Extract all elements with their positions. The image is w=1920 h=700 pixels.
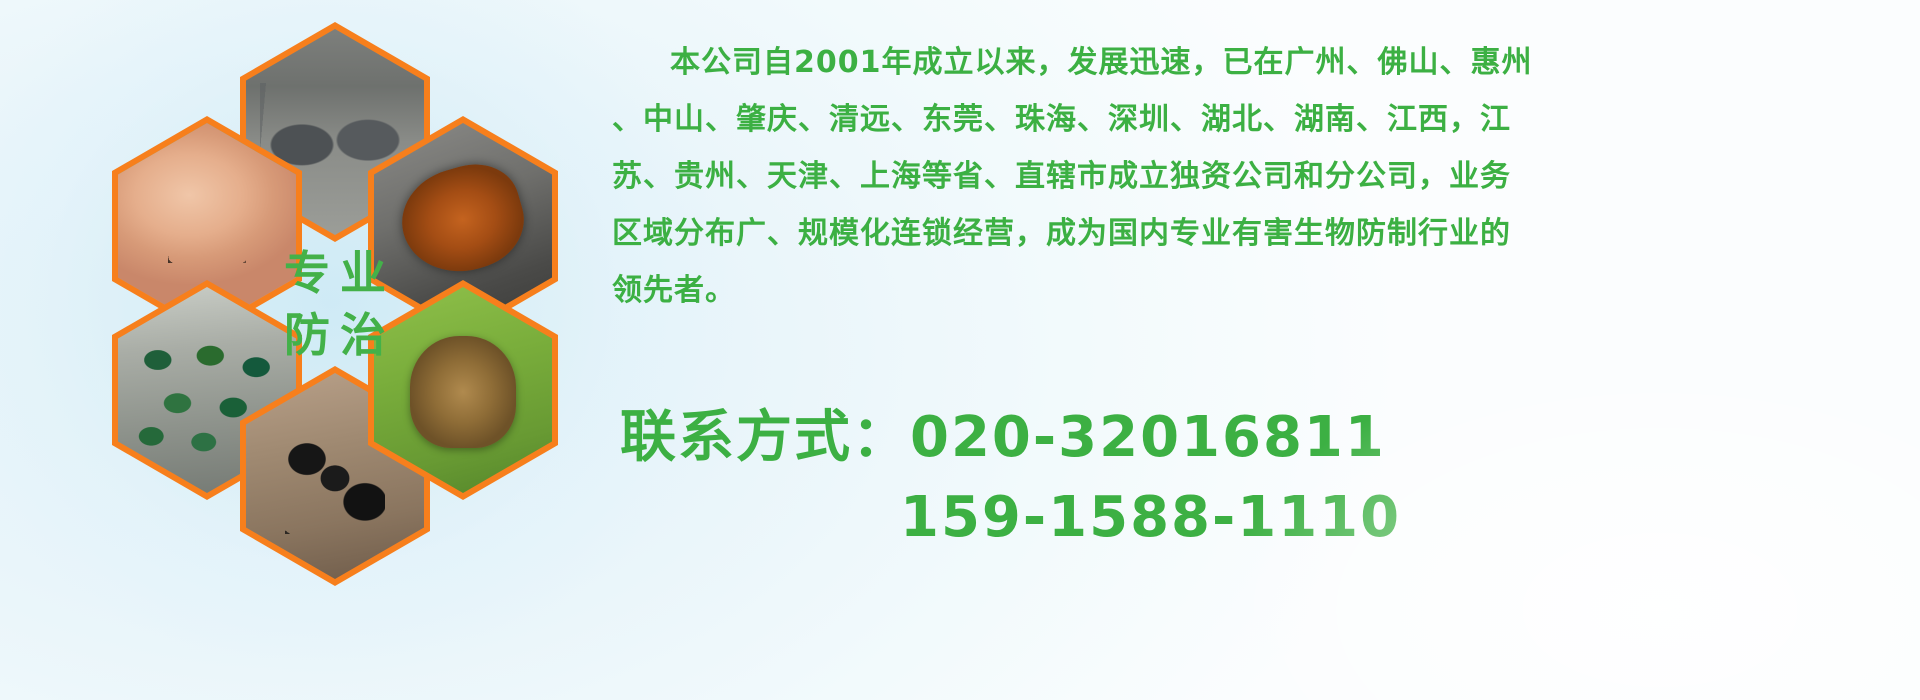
- logo-slogan-line1: 专业: [274, 250, 396, 296]
- intro-paragraph: 本公司自2001年成立以来，发展迅速，已在广州、佛山、惠州 、中山、肇庆、清远、…: [612, 34, 1892, 319]
- intro-line-3: 苏、贵州、天津、上海等省、直辖市成立独资公司和分公司，业务: [612, 148, 1892, 205]
- contact-label: 联系方式：: [620, 405, 910, 470]
- contact-block: 联系方式：020-32016811 159-1588-1110: [620, 398, 1900, 558]
- intro-line-4: 区域分布广、规模化连锁经营，成为国内专业有害生物防制行业的: [612, 205, 1892, 262]
- contact-primary-line: 联系方式：020-32016811: [620, 398, 1900, 478]
- contact-phone-primary[interactable]: 020-32016811: [910, 405, 1386, 470]
- intro-line-5: 领先者。: [612, 262, 1892, 319]
- honeycomb-image-cluster: 专业 防治: [88, 8, 608, 568]
- logo-slogan-line2: 防治: [274, 312, 396, 358]
- company-intro: 本公司自2001年成立以来，发展迅速，已在广州、佛山、惠州 、中山、肇庆、清远、…: [612, 34, 1892, 319]
- intro-line-2: 、中山、肇庆、清远、东莞、珠海、深圳、湖北、湖南、江西，江: [612, 91, 1892, 148]
- intro-line-1: 本公司自2001年成立以来，发展迅速，已在广州、佛山、惠州: [612, 34, 1892, 91]
- logo-slogan: 专业 防治: [240, 194, 430, 414]
- contact-phone-secondary[interactable]: 159-1588-1110: [620, 478, 1900, 558]
- promo-banner: 专业 防治 本公司自2001年成立以来，发展迅速，已在广州、佛山、惠州 、中山、…: [0, 0, 1920, 700]
